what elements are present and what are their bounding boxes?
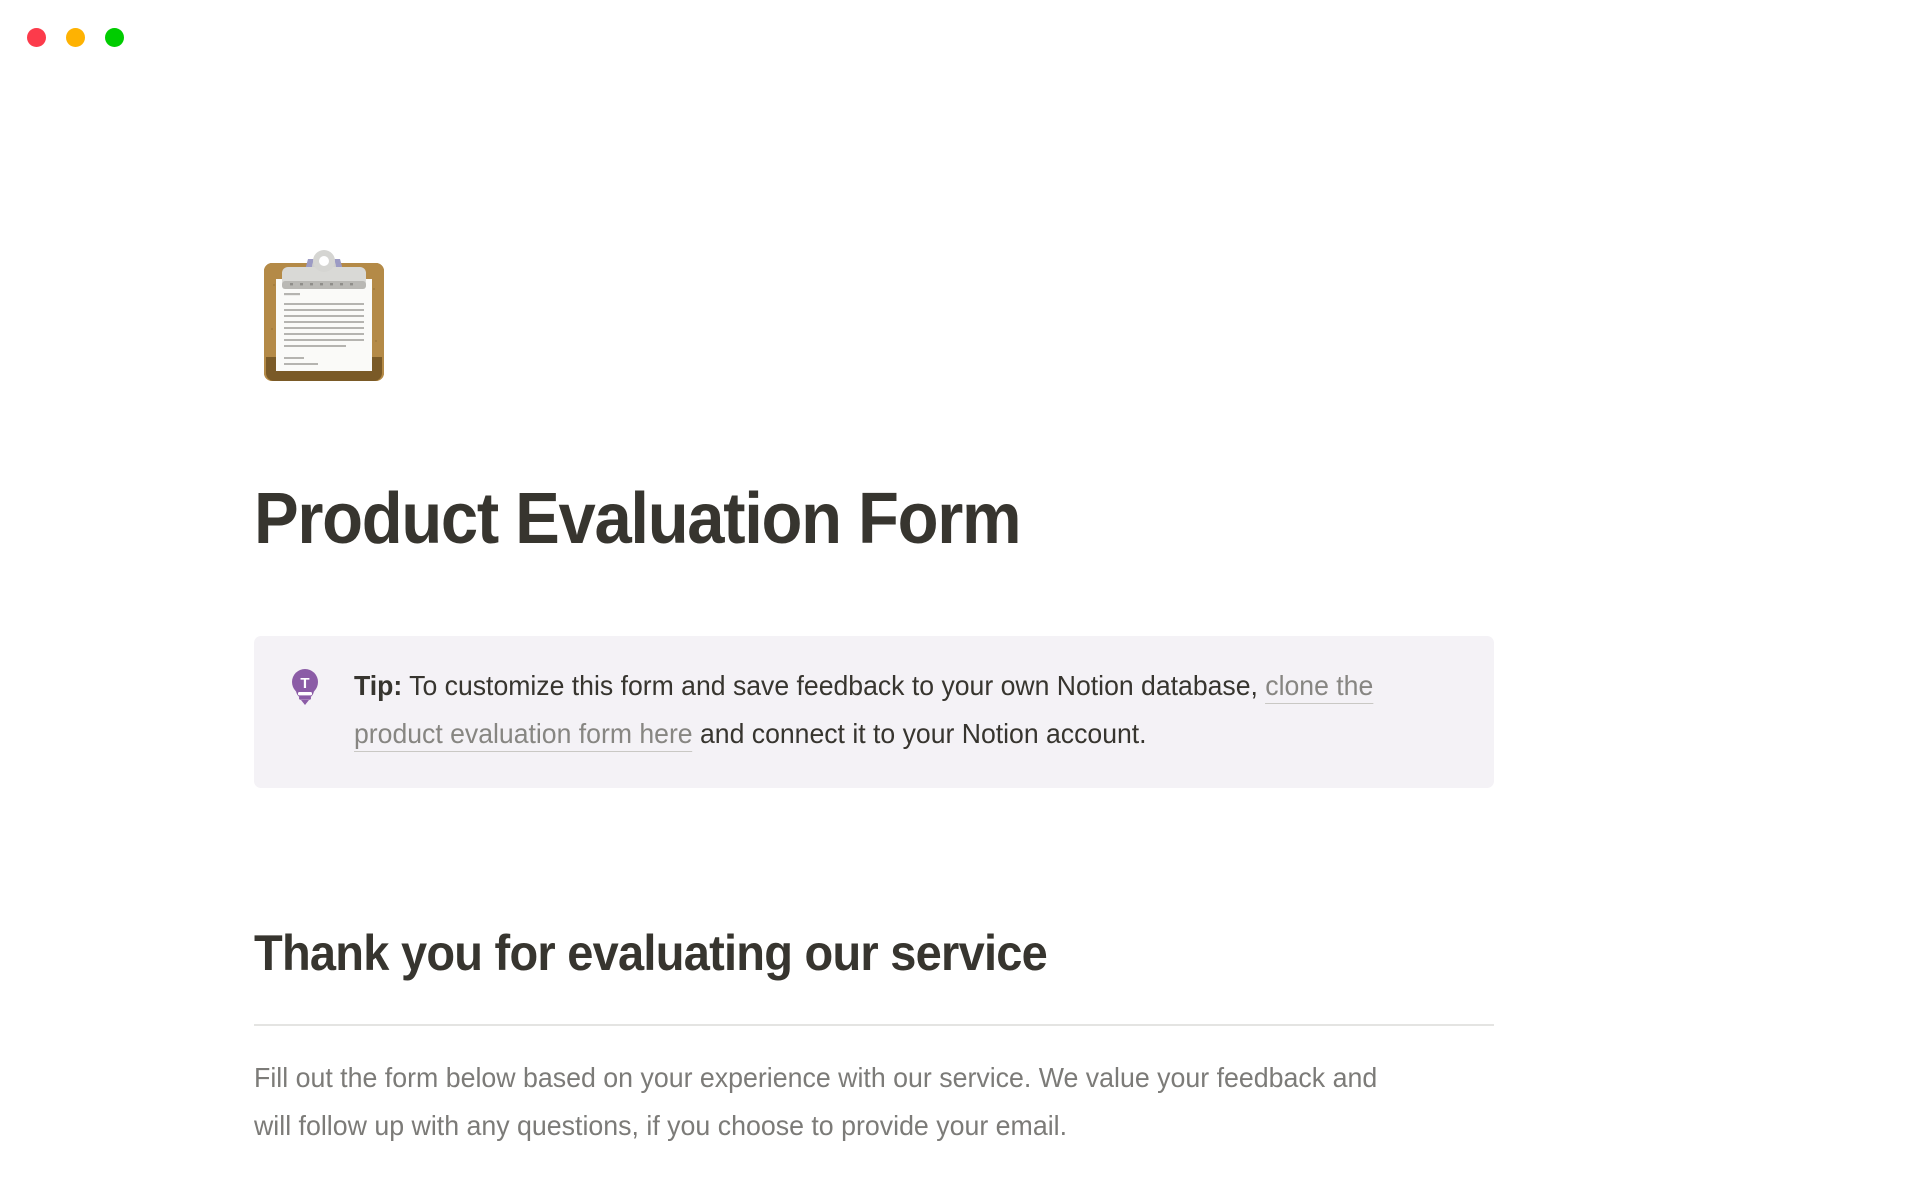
lightbulb-tip-icon: T [288,667,322,707]
svg-text:T: T [300,675,309,692]
window-chrome [0,0,1920,70]
maximize-window-button[interactable] [105,28,124,47]
tip-text-after-link: and connect it to your Notion account. [693,718,1147,749]
tip-label: Tip: [354,670,402,701]
document-page: Product Evaluation Form T Tip: To custom… [0,0,1920,1200]
section-heading: Thank you for evaluating our service [254,922,1047,984]
traffic-light-controls [27,28,124,47]
tip-callout-text: Tip: To customize this form and save fee… [354,662,1409,758]
tip-text-before-link: To customize this form and save feedback… [402,670,1265,701]
page-title: Product Evaluation Form [254,478,1370,560]
close-window-button[interactable] [27,28,46,47]
minimize-window-button[interactable] [66,28,85,47]
tip-callout: T Tip: To customize this form and save f… [254,636,1494,788]
intro-paragraph: Fill out the form below based on your ex… [254,1054,1400,1150]
section-divider [254,1024,1494,1026]
clipboard-icon[interactable] [254,245,394,385]
